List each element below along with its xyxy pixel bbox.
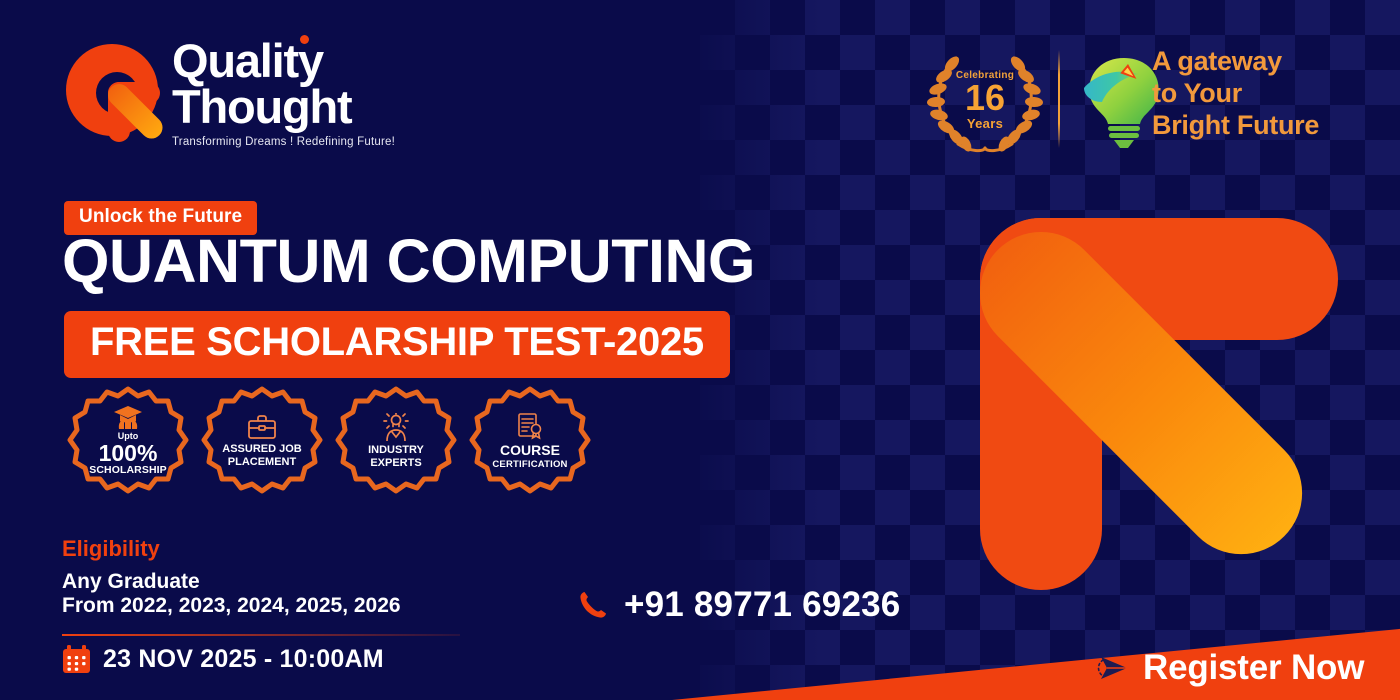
event-datetime: 23 NOV 2025 - 10:00AM [103,645,384,674]
anniversary-years-label: Years [967,116,1003,131]
badge-industry-experts: INDUSTRY EXPERTS [334,385,458,497]
right-tagline-line1: A gateway [1152,46,1319,78]
badge-job-placement-line1: ASSURED JOB [222,443,301,456]
calendar-icon [62,645,91,674]
anniversary-badge: Celebrating 16 Years [926,44,1044,156]
event-datetime-row: 23 NOV 2025 - 10:00AM [62,645,384,674]
badge-course-certification-line2: CERTIFICATION [492,459,567,470]
right-tagline-line2: to Your [1152,78,1319,110]
poster-canvas: Quality Thought Transforming Dreams ! Re… [0,0,1400,700]
badge-industry-experts-line1: INDUSTRY [368,444,424,457]
anniversary-years-number: 16 [965,80,1005,116]
register-now-label: Register Now [1143,648,1364,688]
header-divider [1058,50,1060,148]
briefcase-icon [247,414,277,440]
badge-scholarship: Upto 100% SCHOLARSHIP [66,385,190,497]
brand-name-block: Quality Thought Transforming Dreams ! Re… [172,38,395,148]
eligibility-line1: Any Graduate [62,570,200,594]
badge-scholarship-label: SCHOLARSHIP [89,465,167,477]
page-title: QUANTUM COMPUTING [62,226,755,296]
eligibility-title: Eligibility [62,536,160,562]
hero-subheadline-bar: FREE SCHOLARSHIP TEST-2025 [64,311,730,378]
brand-logo[interactable]: Quality Thought Transforming Dreams ! Re… [66,38,395,148]
badge-job-placement: ASSURED JOB PLACEMENT [200,385,324,497]
phone-icon [578,590,608,620]
paper-plane-icon [1097,654,1129,682]
badge-industry-experts-line2: EXPERTS [370,457,421,470]
certificate-document-icon [516,412,544,440]
quality-thought-arrow-mark-icon [952,218,1342,590]
contact-phone-row[interactable]: +91 89771 69236 [578,585,900,625]
right-tagline-line3: Bright Future [1152,110,1319,142]
divider-rule [62,634,460,636]
quality-thought-arrow-logo-icon [66,44,158,142]
brand-name-line1-wrap: Quality [172,38,395,84]
register-now-button[interactable]: Register Now [1097,648,1364,688]
feature-badges-row: Upto 100% SCHOLARSHIP ASSURED JOB [66,385,592,497]
badge-course-certification: COURSE CERTIFICATION [468,385,592,497]
brand-name-line2: Thought [172,84,395,130]
badge-course-certification-line1: COURSE [500,443,560,458]
brand-tagline: Transforming Dreams ! Redefining Future! [172,136,395,148]
expert-person-bulb-icon [380,413,412,441]
right-tagline: A gateway to Your Bright Future [1152,46,1319,142]
logo-accent-dot [300,35,309,44]
eligibility-line2: From 2022, 2023, 2024, 2025, 2026 [62,594,401,618]
badge-scholarship-value: 100% [99,442,158,465]
badge-job-placement-line2: PLACEMENT [228,456,296,469]
contact-phone-number: +91 89771 69236 [624,585,900,625]
graduation-cap-hands-icon [113,405,143,429]
